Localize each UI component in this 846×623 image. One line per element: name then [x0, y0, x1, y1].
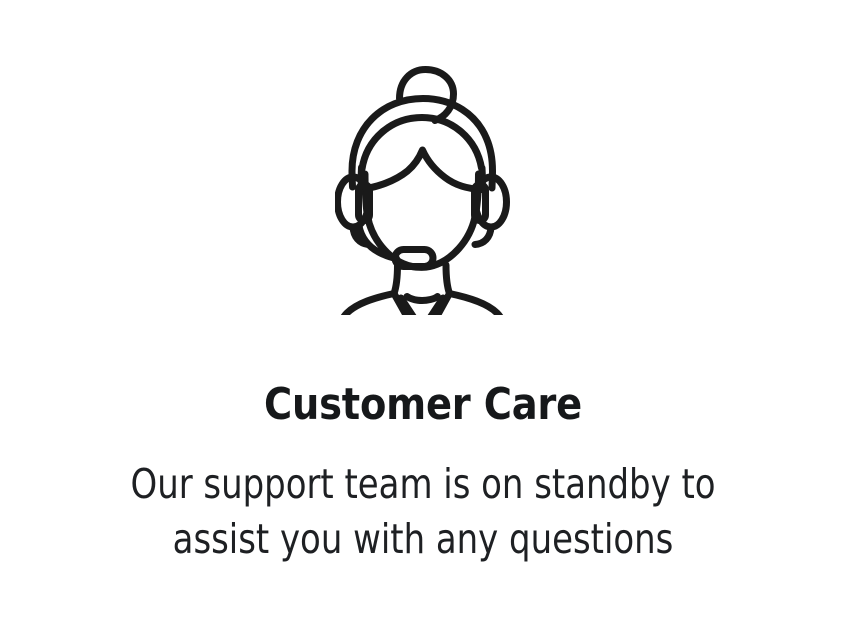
- bangs-fringe: [362, 150, 483, 190]
- shoulders-outline: [337, 294, 394, 316]
- neck-outline-right: [446, 265, 450, 294]
- headband-line: [362, 118, 482, 170]
- subtitle: Our support team is on standby to assist…: [92, 457, 754, 567]
- neck-outline: [394, 265, 398, 294]
- subtitle-line-1: Our support team is on standby to: [92, 457, 754, 512]
- illustration-container: [0, 47, 846, 315]
- page-title: Customer Care: [13, 383, 834, 427]
- subtitle-line-2: assist you with any questions: [92, 512, 754, 567]
- customer-care-card: Customer Care Our support team is on sta…: [0, 0, 846, 623]
- collar-line: [407, 297, 438, 301]
- customer-service-agent-headset-icon: [335, 47, 511, 315]
- shoulders-outline-right: [450, 294, 508, 316]
- headset-band-right: [475, 227, 491, 245]
- hair-bun-shape: [400, 70, 454, 121]
